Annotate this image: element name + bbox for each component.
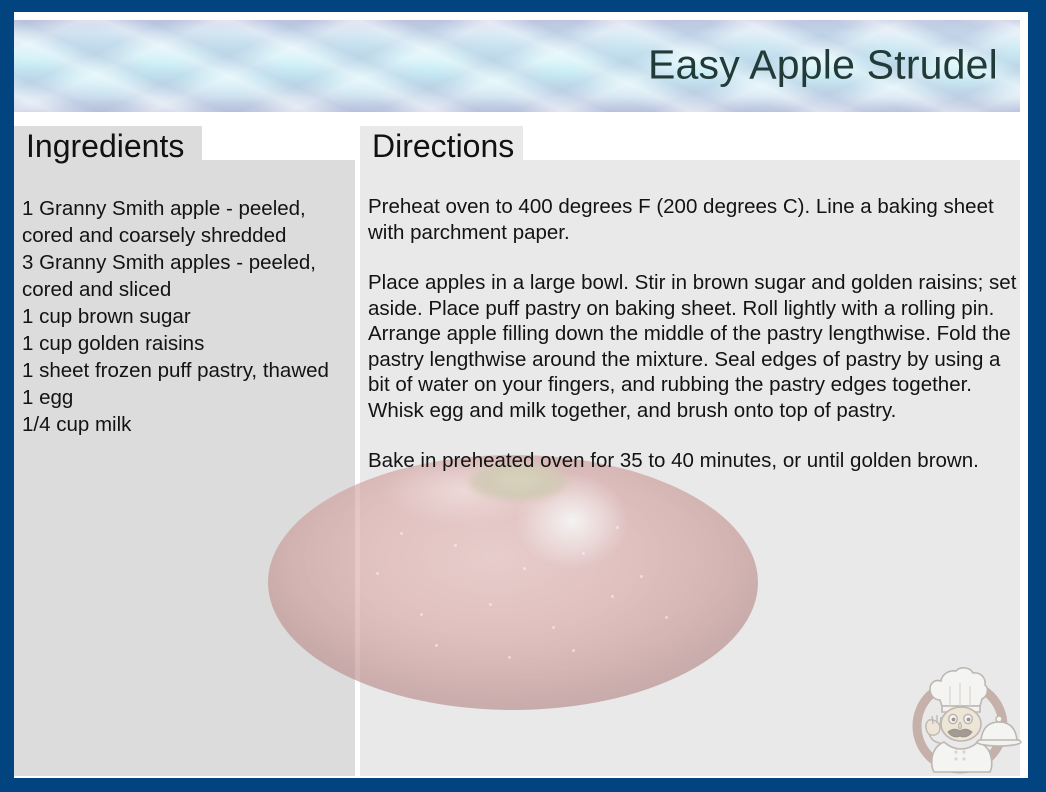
directions-paragraph-2: Place apples in a large bowl. Stir in br… [368,270,1018,423]
ingredients-list: 1 Granny Smith apple - peeled, cored and… [22,195,352,438]
directions-paragraph-3: Bake in preheated oven for 35 to 40 minu… [368,448,1018,474]
page-title: Easy Apple Strudel [648,42,998,89]
ingredients-heading: Ingredients [14,126,202,168]
header-banner: Easy Apple Strudel [14,20,1020,112]
slide-frame: Easy Apple Strudel Ingredients Direction… [0,0,1046,792]
directions-body: Preheat oven to 400 degrees F (200 degre… [368,194,1018,474]
directions-heading: Directions [360,126,523,168]
directions-paragraph-1: Preheat oven to 400 degrees F (200 degre… [368,194,1018,245]
